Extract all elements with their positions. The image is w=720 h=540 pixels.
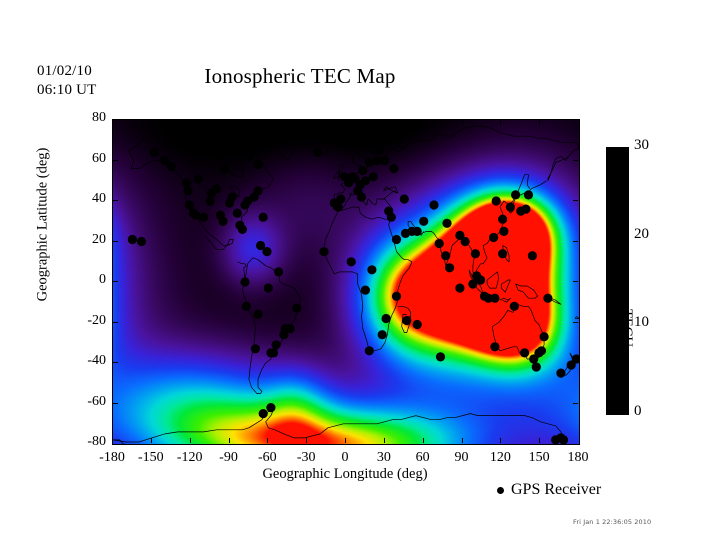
y-tick-right xyxy=(573,281,578,282)
gps-receiver-marker xyxy=(286,324,295,333)
gps-receiver-marker xyxy=(228,192,237,201)
tec-map-figure: 01/02/10 06:10 UT Ionospheric TEC Map -1… xyxy=(0,0,720,540)
y-tick-label: -20 xyxy=(60,313,106,329)
gps-receiver-marker xyxy=(520,348,529,357)
y-tick-right xyxy=(573,362,578,363)
gps-receiver-marker xyxy=(441,251,450,260)
gps-receiver-marker xyxy=(220,164,229,173)
gps-receiver-marker xyxy=(292,304,301,313)
gps-receiver-marker xyxy=(194,174,203,183)
gps-receiver-marker xyxy=(357,192,366,201)
gps-receiver-marker xyxy=(253,310,262,319)
y-tick-left xyxy=(113,322,118,323)
gps-receiver-marker xyxy=(387,213,396,222)
gps-receiver-marker xyxy=(361,286,370,295)
gps-receiver-marker xyxy=(369,172,378,181)
gps-receiver-marker xyxy=(389,164,398,173)
gps-receiver-marker xyxy=(185,200,194,209)
y-tick-right xyxy=(573,322,578,323)
y-tick-label: 80 xyxy=(60,110,106,126)
y-tick-label: -60 xyxy=(60,394,106,410)
y-tick-label: 0 xyxy=(60,272,106,288)
y-tick-left xyxy=(113,362,118,363)
y-tick-label: 20 xyxy=(60,232,106,248)
gps-receiver-marker xyxy=(400,194,409,203)
y-tick-label: 40 xyxy=(60,191,106,207)
x-tick-top xyxy=(384,120,385,125)
gps-receiver-marker xyxy=(471,249,480,258)
gps-receiver-marker xyxy=(382,314,391,323)
gps-receiver-marker xyxy=(445,263,454,272)
gps-receiver-marker xyxy=(218,217,227,226)
map-plot-area xyxy=(112,119,580,445)
x-tick-top xyxy=(267,120,268,125)
y-tick-right xyxy=(573,200,578,201)
colorbar-tick-label: 20 xyxy=(634,226,649,243)
gps-receiver-marker xyxy=(551,435,560,444)
y-tick-left xyxy=(113,281,118,282)
legend-label: GPS Receiver xyxy=(511,481,601,499)
x-tick-top xyxy=(151,120,152,125)
y-axis-title: Geographic Latitude (deg) xyxy=(35,125,52,325)
gps-receiver-marker xyxy=(244,152,253,161)
gps-receiver-marker xyxy=(259,213,268,222)
gps-receiver-marker xyxy=(336,194,345,203)
gps-receiver-marker xyxy=(521,205,530,214)
gps-receiver-marker xyxy=(506,203,515,212)
y-tick-left xyxy=(113,403,118,404)
gps-receiver-marker xyxy=(365,158,374,167)
x-tick-label: 180 xyxy=(548,450,608,466)
gps-receiver-marker xyxy=(540,332,549,341)
gps-receiver-marker xyxy=(212,184,221,193)
gps-receiver-marker xyxy=(347,257,356,266)
gps-receiver-marker xyxy=(358,166,367,175)
gps-station-overlay xyxy=(113,120,579,444)
x-tick-top xyxy=(500,120,501,125)
x-tick-bottom xyxy=(267,438,268,443)
gps-receiver-marker xyxy=(313,148,322,157)
gps-receiver-marker xyxy=(442,219,451,228)
x-tick-top xyxy=(423,120,424,125)
x-tick-bottom xyxy=(229,438,230,443)
x-tick-bottom xyxy=(462,438,463,443)
render-timestamp: Fri Jan 1 22:36:05 2010 xyxy=(573,518,651,526)
gps-receiver-marker xyxy=(401,229,410,238)
y-tick-left xyxy=(113,160,118,161)
gps-receiver-marker xyxy=(413,227,422,236)
gps-receiver-marker xyxy=(532,362,541,371)
gps-receiver-marker xyxy=(266,403,275,412)
gps-receiver-marker xyxy=(392,292,401,301)
gps-receiver-marker xyxy=(490,294,499,303)
gps-receiver-marker xyxy=(461,237,470,246)
gps-receiver-marker xyxy=(378,330,387,339)
y-tick-label: -80 xyxy=(60,434,106,450)
x-tick-top xyxy=(345,120,346,125)
gps-receiver-marker xyxy=(510,302,519,311)
colorbar-tick-label: 0 xyxy=(634,403,642,420)
gps-receiver-marker xyxy=(375,146,384,155)
gps-receiver-marker xyxy=(429,200,438,209)
gps-receiver-marker xyxy=(259,409,268,418)
y-tick-left xyxy=(113,200,118,201)
x-tick-bottom xyxy=(345,438,346,443)
y-tick-right xyxy=(573,160,578,161)
gps-receiver-marker xyxy=(160,156,169,165)
gps-receiver-marker xyxy=(511,190,520,199)
x-tick-top xyxy=(462,120,463,125)
x-tick-bottom xyxy=(539,438,540,443)
gps-receiver-marker xyxy=(137,237,146,246)
gps-receiver-marker xyxy=(455,284,464,293)
gps-receiver-marker xyxy=(492,196,501,205)
gps-receiver-marker xyxy=(242,302,251,311)
y-tick-right xyxy=(573,403,578,404)
gps-receiver-marker xyxy=(269,348,278,357)
gps-receiver-marker xyxy=(251,344,260,353)
x-tick-top xyxy=(190,120,191,125)
gps-receiver-marker xyxy=(529,354,538,363)
gps-receiver-marker xyxy=(361,176,370,185)
gps-receiver-marker xyxy=(413,320,422,329)
x-tick-bottom xyxy=(190,438,191,443)
gps-receiver-marker xyxy=(272,340,281,349)
gps-receiver-marker xyxy=(334,203,343,212)
x-tick-bottom xyxy=(423,438,424,443)
gps-receiver-marker xyxy=(253,160,262,169)
gps-receiver-marker xyxy=(556,369,565,378)
gps-receiver-marker xyxy=(191,211,200,220)
gps-receiver-marker xyxy=(392,235,401,244)
gps-receiver-marker xyxy=(402,316,411,325)
gps-receiver-marker xyxy=(128,235,137,244)
gps-receiver-marker xyxy=(543,294,552,303)
gps-receiver-marker xyxy=(490,342,499,351)
x-tick-top xyxy=(229,120,230,125)
gps-receiver-marker xyxy=(528,251,537,260)
gps-receiver-marker xyxy=(524,190,533,199)
colorbar-tick-label: 30 xyxy=(634,137,649,154)
x-tick-top xyxy=(539,120,540,125)
gps-receiver-marker xyxy=(274,267,283,276)
gps-receiver-marker xyxy=(240,277,249,286)
gps-receiver-marker xyxy=(499,227,508,236)
x-tick-bottom xyxy=(306,438,307,443)
gps-receiver-marker xyxy=(367,265,376,274)
legend: GPS Receiver xyxy=(497,481,601,499)
y-tick-label: -40 xyxy=(60,353,106,369)
y-tick-label: 60 xyxy=(60,151,106,167)
gps-receiver-marker xyxy=(233,209,242,218)
gps-receiver-marker xyxy=(253,186,262,195)
gps-receiver-marker xyxy=(419,217,428,226)
x-tick-bottom xyxy=(500,438,501,443)
x-tick-bottom xyxy=(384,438,385,443)
gps-receiver-marker xyxy=(182,178,191,187)
gps-receiver-marker xyxy=(262,247,271,256)
gps-receiver-marker xyxy=(150,148,159,157)
gps-receiver-marker xyxy=(498,249,507,258)
gps-receiver-marker xyxy=(206,196,215,205)
y-tick-left xyxy=(113,241,118,242)
gps-receiver-marker xyxy=(319,247,328,256)
gps-receiver-marker xyxy=(184,186,193,195)
gps-receiver-marker xyxy=(435,239,444,248)
filled-circle-icon xyxy=(497,487,504,494)
x-tick-bottom xyxy=(151,438,152,443)
gps-receiver-marker xyxy=(436,352,445,361)
gps-receiver-marker xyxy=(380,156,389,165)
gps-receiver-marker xyxy=(489,233,498,242)
gps-receiver-marker xyxy=(498,215,507,224)
x-tick-top xyxy=(306,120,307,125)
gps-receiver-marker xyxy=(365,346,374,355)
colorbar-title: TECU xyxy=(618,268,635,388)
y-tick-right xyxy=(573,241,578,242)
gps-receiver-marker xyxy=(238,225,247,234)
gps-receiver-marker xyxy=(199,213,208,222)
gps-receiver-marker xyxy=(468,279,477,288)
gps-receiver-marker xyxy=(264,284,273,293)
colorbar-tick-label: 10 xyxy=(634,314,649,331)
page-title: Ionospheric TEC Map xyxy=(0,64,600,89)
